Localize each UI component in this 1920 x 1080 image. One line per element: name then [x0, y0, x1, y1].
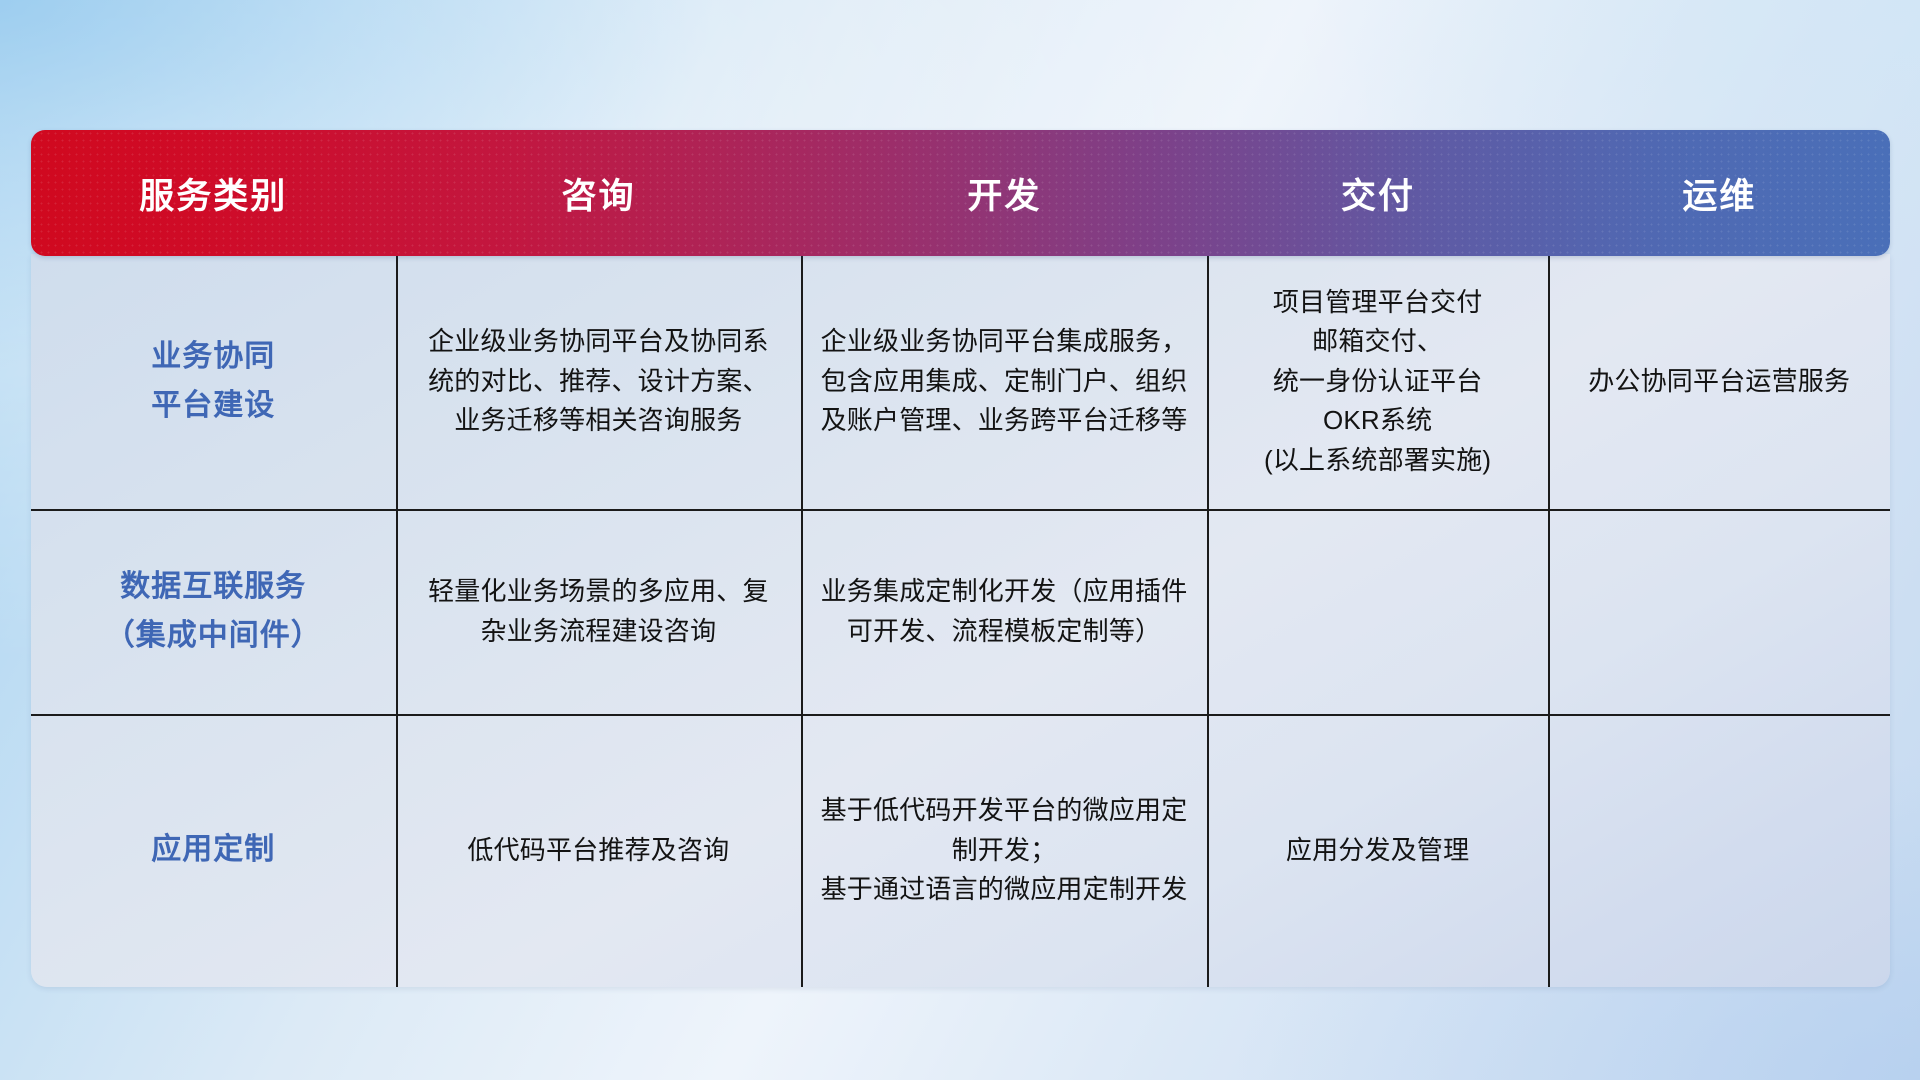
cell-operations: 办公协同平台运营服务: [1548, 254, 1890, 509]
column-header-label: 开发: [967, 168, 1041, 219]
cell-development: 企业级业务协同平台集成服务， 包含应用集成、定制门户、组织 及账户管理、业务跨平…: [801, 254, 1207, 509]
cell-category: 业务协同 平台建设: [31, 254, 396, 509]
column-header-label: 运维: [1682, 168, 1756, 219]
cell-operations: [1548, 509, 1890, 714]
cell-text: 办公协同平台运营服务: [1588, 362, 1850, 402]
table-body: 业务协同 平台建设 企业级业务协同平台及协同系 统的对比、推荐、设计方案、 业务…: [31, 254, 1890, 987]
cell-delivery: 应用分发及管理: [1207, 714, 1549, 987]
column-header-development: 开发: [801, 130, 1207, 256]
column-header-delivery: 交付: [1207, 130, 1548, 256]
column-header-category: 服务类别: [31, 130, 396, 256]
cell-development: 基于低代码开发平台的微应用定 制开发； 基于通过语言的微应用定制开发: [801, 714, 1207, 987]
category-label: 数据互联服务 （集成中间件）: [105, 563, 322, 660]
cell-development: 业务集成定制化开发（应用插件 可开发、流程模板定制等）: [801, 509, 1207, 714]
cell-consulting: 低代码平台推荐及咨询: [396, 714, 802, 987]
cell-consulting: 轻量化业务场景的多应用、复 杂业务流程建设咨询: [396, 509, 802, 714]
cell-text: 应用分发及管理: [1286, 831, 1469, 871]
cell-category: 数据互联服务 （集成中间件）: [31, 509, 396, 714]
cell-delivery: 项目管理平台交付 邮箱交付、 统一身份认证平台 OKR系统 (以上系统部署实施): [1207, 254, 1549, 509]
category-label: 应用定制: [151, 826, 275, 875]
cell-consulting: 企业级业务协同平台及协同系 统的对比、推荐、设计方案、 业务迁移等相关咨询服务: [396, 254, 802, 509]
cell-text: 基于低代码开发平台的微应用定 制开发； 基于通过语言的微应用定制开发: [821, 791, 1188, 910]
cell-text: 业务集成定制化开发（应用插件 可开发、流程模板定制等）: [821, 572, 1188, 651]
cell-operations: [1548, 714, 1890, 987]
slide-canvas: 服务类别 咨询 开发 交付 运维 业务协同 平台建设: [0, 0, 1920, 1080]
cell-delivery: [1207, 509, 1549, 714]
cell-text: 企业级业务协同平台集成服务， 包含应用集成、定制门户、组织 及账户管理、业务跨平…: [821, 322, 1188, 441]
cell-text: 项目管理平台交付 邮箱交付、 统一身份认证平台 OKR系统 (以上系统部署实施): [1264, 283, 1491, 481]
service-matrix-table: 服务类别 咨询 开发 交付 运维 业务协同 平台建设: [31, 130, 1890, 987]
category-label: 业务协同 平台建设: [151, 333, 275, 430]
cell-text: 企业级业务协同平台及协同系 统的对比、推荐、设计方案、 业务迁移等相关咨询服务: [428, 322, 769, 441]
cell-text: 轻量化业务场景的多应用、复 杂业务流程建设咨询: [428, 572, 769, 651]
table-header-row: 服务类别 咨询 开发 交付 运维: [31, 130, 1890, 256]
cell-text: 低代码平台推荐及咨询: [467, 831, 729, 871]
column-header-consulting: 咨询: [396, 130, 802, 256]
table-row: 数据互联服务 （集成中间件） 轻量化业务场景的多应用、复 杂业务流程建设咨询 业…: [31, 509, 1890, 714]
column-header-label: 交付: [1341, 168, 1415, 219]
column-header-label: 服务类别: [139, 168, 287, 219]
column-header-label: 咨询: [561, 168, 635, 219]
column-header-operations: 运维: [1549, 130, 1890, 256]
table-row: 应用定制 低代码平台推荐及咨询 基于低代码开发平台的微应用定 制开发； 基于通过…: [31, 714, 1890, 987]
cell-category: 应用定制: [31, 714, 396, 987]
table-row: 业务协同 平台建设 企业级业务协同平台及协同系 统的对比、推荐、设计方案、 业务…: [31, 254, 1890, 509]
